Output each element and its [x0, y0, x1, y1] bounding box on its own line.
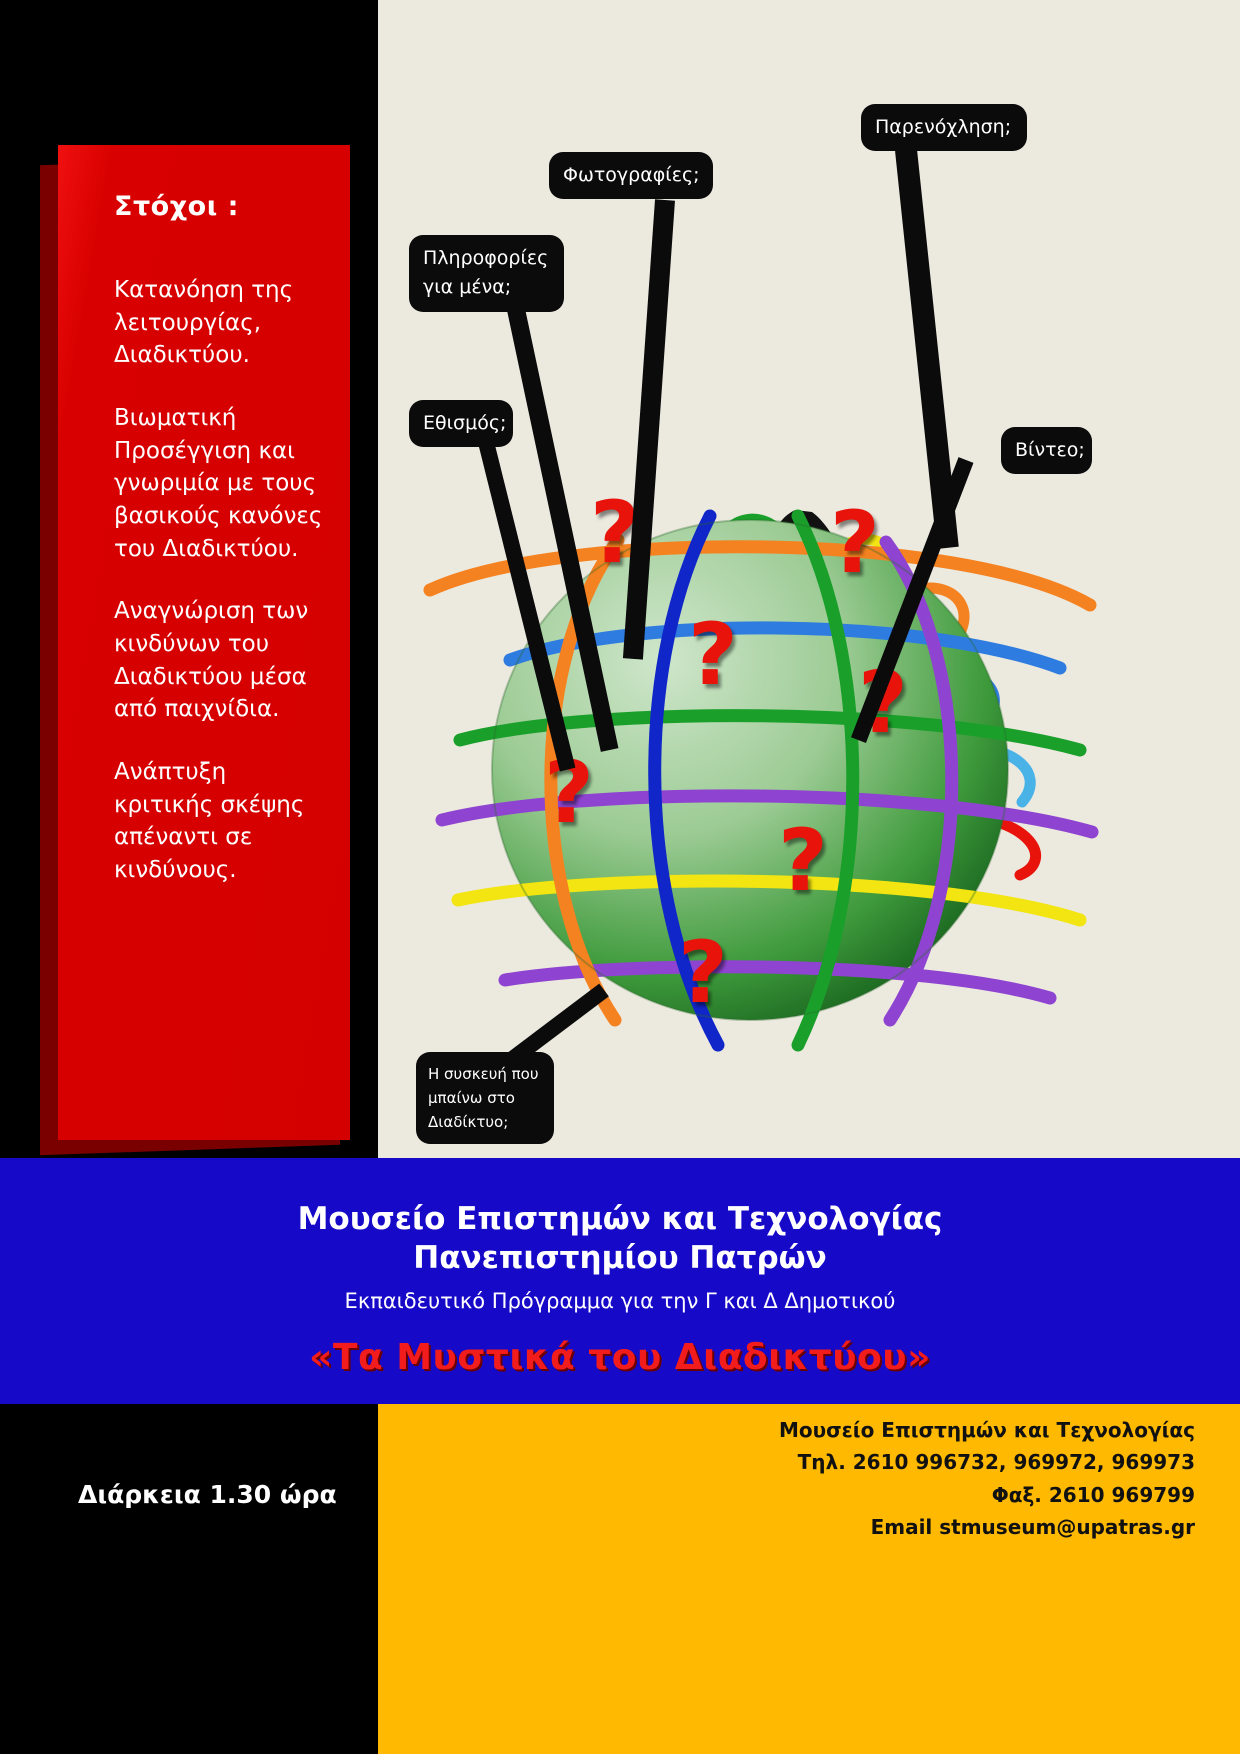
- contact-line-3: Φαξ. 2610 969799: [378, 1479, 1195, 1511]
- museum-title-line2: Πανεπιστημίου Πατρών: [413, 1240, 826, 1276]
- goal-item-4: Ανάπτυξη κριτικής σκέψης απέναντι σε κιν…: [114, 756, 324, 887]
- bubble-harassment[interactable]: Παρενόχληση;: [861, 104, 1027, 151]
- bubble-addiction[interactable]: Εθισμός;: [409, 400, 513, 447]
- goal-item-3: Αναγνώριση των κινδύνων του Διαδικτύου μ…: [114, 595, 324, 726]
- contact-line-2: Τηλ. 2610 996732, 969972, 969973: [378, 1446, 1195, 1478]
- question-mark-6: ?: [778, 818, 828, 904]
- bubble-video[interactable]: Βίντεο;: [1001, 427, 1092, 474]
- question-mark-7: ?: [678, 930, 728, 1016]
- bubble-device[interactable]: Η συσκευή που μπαίνω στο Διαδίκτυο;: [416, 1052, 554, 1144]
- contact-line-1: Μουσείο Επιστημών και Τεχνολογίας: [378, 1414, 1195, 1446]
- duration-label: Διάρκεια 1.30 ώρα: [78, 1480, 337, 1509]
- goals-box: Στόχοι : Κατανόηση της λειτουργίας, Διαδ…: [58, 145, 350, 1140]
- bubble-info-about-me[interactable]: Πληροφορίες για μένα;: [409, 235, 564, 312]
- question-mark-3: ?: [830, 500, 880, 586]
- program-title: «Τα Μυστικά του Διαδικτύου»: [0, 1337, 1240, 1378]
- contact-line-4[interactable]: Email stmuseum@upatras.gr: [378, 1511, 1195, 1543]
- goals-title: Στόχοι :: [114, 191, 324, 222]
- contact-panel: Μουσείο Επιστημών και Τεχνολογίας Τηλ. 2…: [378, 1404, 1240, 1754]
- museum-title-line1: Μουσείο Επιστημών και Τεχνολογίας: [298, 1201, 943, 1237]
- poster-root: Στόχοι : Κατανόηση της λειτουργίας, Διαδ…: [0, 0, 1240, 1754]
- program-subtitle: Εκπαιδευτικό Πρόγραμμα για την Γ και Δ Δ…: [0, 1288, 1240, 1315]
- goal-item-1: Κατανόηση της λειτουργίας, Διαδικτύου.: [114, 274, 324, 372]
- bubble-photos[interactable]: Φωτογραφίες;: [549, 152, 713, 199]
- question-mark-2: ?: [688, 612, 738, 698]
- goal-item-2: Βιωματική Προσέγγιση και γνωριμία με του…: [114, 402, 324, 565]
- museum-title: Μουσείο Επιστημών και Τεχνολογίας Πανεπι…: [0, 1158, 1240, 1278]
- bottom-black-band: [0, 1404, 378, 1754]
- museum-banner: Μουσείο Επιστημών και Τεχνολογίας Πανεπι…: [0, 1158, 1240, 1404]
